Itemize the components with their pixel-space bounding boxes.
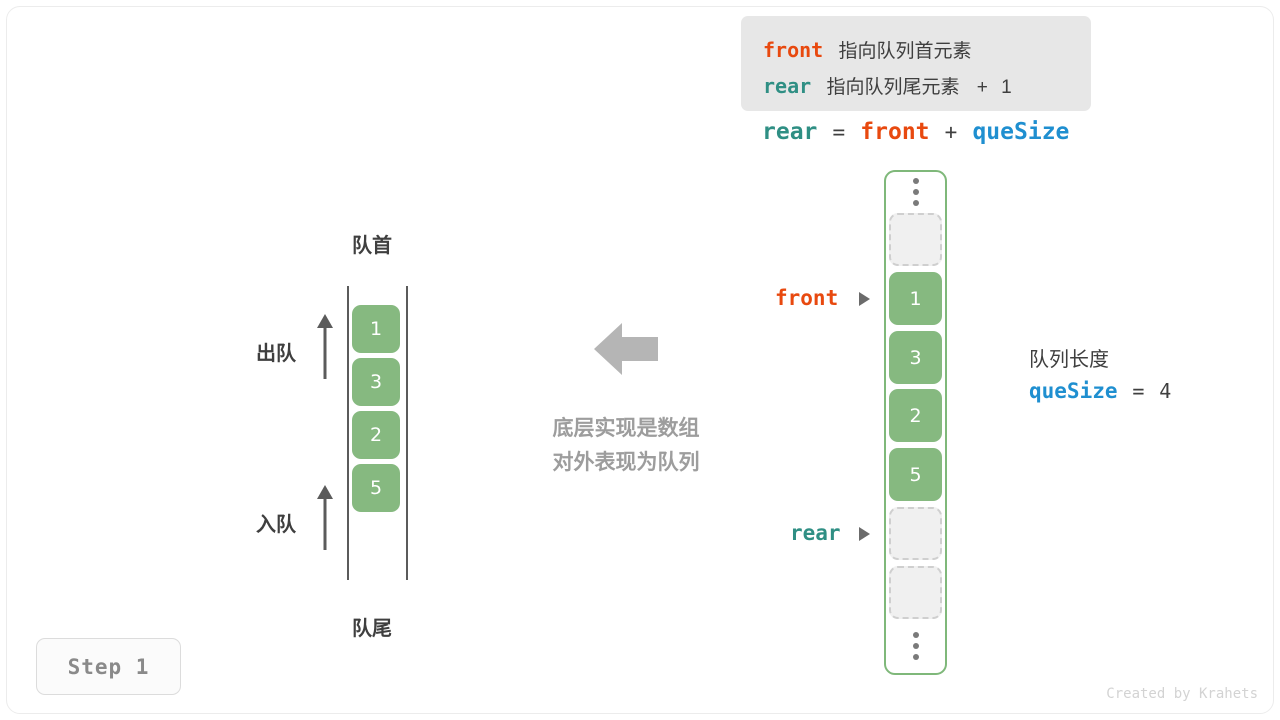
array-ellipsis-bottom-icon [909, 632, 923, 660]
array-ellipsis-top-icon [909, 178, 923, 206]
center-caption-line2: 对外表现为队列 [528, 446, 724, 480]
quesize-note-expression: queSize = 4 [1029, 379, 1171, 404]
front-pointer-arrow-icon [859, 292, 870, 306]
array-cell-empty [889, 213, 942, 266]
center-caption: 底层实现是数组 对外表现为队列 [528, 412, 724, 480]
array-cell-filled: 2 [889, 389, 942, 442]
legend-rear-code: rear [763, 74, 811, 98]
formula-front: front [860, 119, 929, 145]
legend-line-rear: rear 指向队列尾元素 + 1 [763, 72, 1012, 99]
rear-pointer-label: rear [790, 521, 841, 545]
queue-tail-label: 队尾 [352, 612, 392, 641]
queue-cell: 3 [352, 358, 400, 406]
queue-rail-right [406, 286, 408, 580]
enqueue-label: 入队 [256, 508, 296, 537]
array-cell-filled: 5 [889, 448, 942, 501]
legend-box: front 指向队列首元素 rear 指向队列尾元素 + 1 [741, 16, 1091, 111]
queue-rail-left [347, 286, 349, 580]
transform-left-arrow-icon [592, 320, 660, 378]
front-pointer-label: front [775, 286, 838, 310]
dequeue-arrow-icon [313, 313, 337, 379]
rear-pointer-arrow-icon [859, 527, 870, 541]
quesize-note-var: queSize [1029, 379, 1118, 403]
legend-rear-value: 1 [1001, 77, 1012, 98]
credit-text: Created by Krahets [1106, 686, 1258, 702]
legend-line-front: front 指向队列首元素 [763, 36, 972, 63]
formula-lhs: rear [762, 119, 817, 145]
enqueue-arrow-icon [313, 484, 337, 550]
center-caption-line1: 底层实现是数组 [528, 412, 724, 446]
formula-quesize: queSize [972, 119, 1069, 145]
quesize-note-equals: = [1132, 379, 1144, 403]
formula-plus: + [945, 120, 958, 144]
quesize-note-value: 4 [1159, 379, 1171, 403]
formula-rear-equals: rear = front + queSize [762, 119, 1069, 145]
queue-cell: 1 [352, 305, 400, 353]
legend-rear-text: 指向队列尾元素 [826, 77, 959, 98]
diagram-canvas: front 指向队列首元素 rear 指向队列尾元素 + 1 rear = fr… [0, 0, 1280, 720]
array-cell-empty [889, 566, 942, 619]
legend-front-text: 指向队列首元素 [839, 41, 972, 62]
quesize-note-title: 队列长度 [1029, 343, 1109, 372]
array-cell-empty [889, 507, 942, 560]
queue-cell: 2 [352, 411, 400, 459]
legend-front-code: front [763, 38, 823, 62]
queue-cell: 5 [352, 464, 400, 512]
formula-equals: = [833, 120, 846, 144]
queue-head-label: 队首 [352, 229, 392, 258]
legend-rear-op: + [977, 77, 988, 98]
step-badge: Step 1 [36, 638, 181, 695]
dequeue-label: 出队 [256, 337, 296, 366]
array-cell-filled: 1 [889, 272, 942, 325]
array-cell-filled: 3 [889, 331, 942, 384]
